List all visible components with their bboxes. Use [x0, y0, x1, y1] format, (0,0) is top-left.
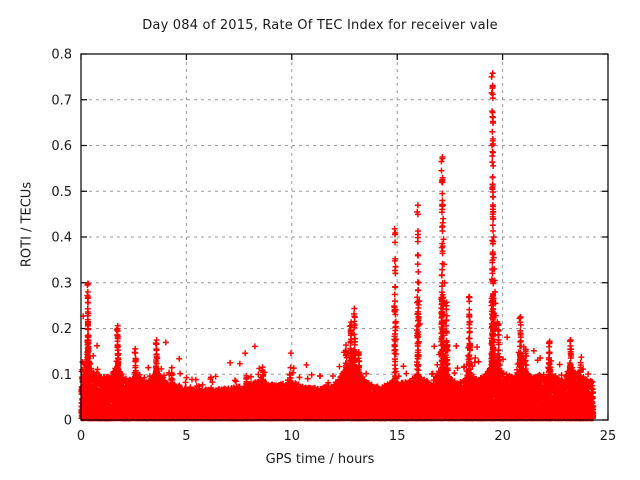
data-point — [183, 379, 189, 385]
data-points — [78, 70, 596, 421]
data-point — [177, 371, 183, 377]
plot-canvas: 00.10.20.30.40.50.60.70.80510152025 — [0, 0, 640, 480]
data-point — [163, 339, 169, 345]
data-point — [145, 365, 151, 371]
data-point — [176, 356, 182, 362]
data-point — [193, 377, 199, 383]
scatter-plot-svg: 00.10.20.30.40.50.60.70.80510152025 — [0, 0, 640, 480]
data-point — [183, 375, 189, 381]
plot-figure: Day 084 of 2015, Rate Of TEC Index for r… — [0, 0, 640, 480]
data-point — [94, 343, 100, 349]
